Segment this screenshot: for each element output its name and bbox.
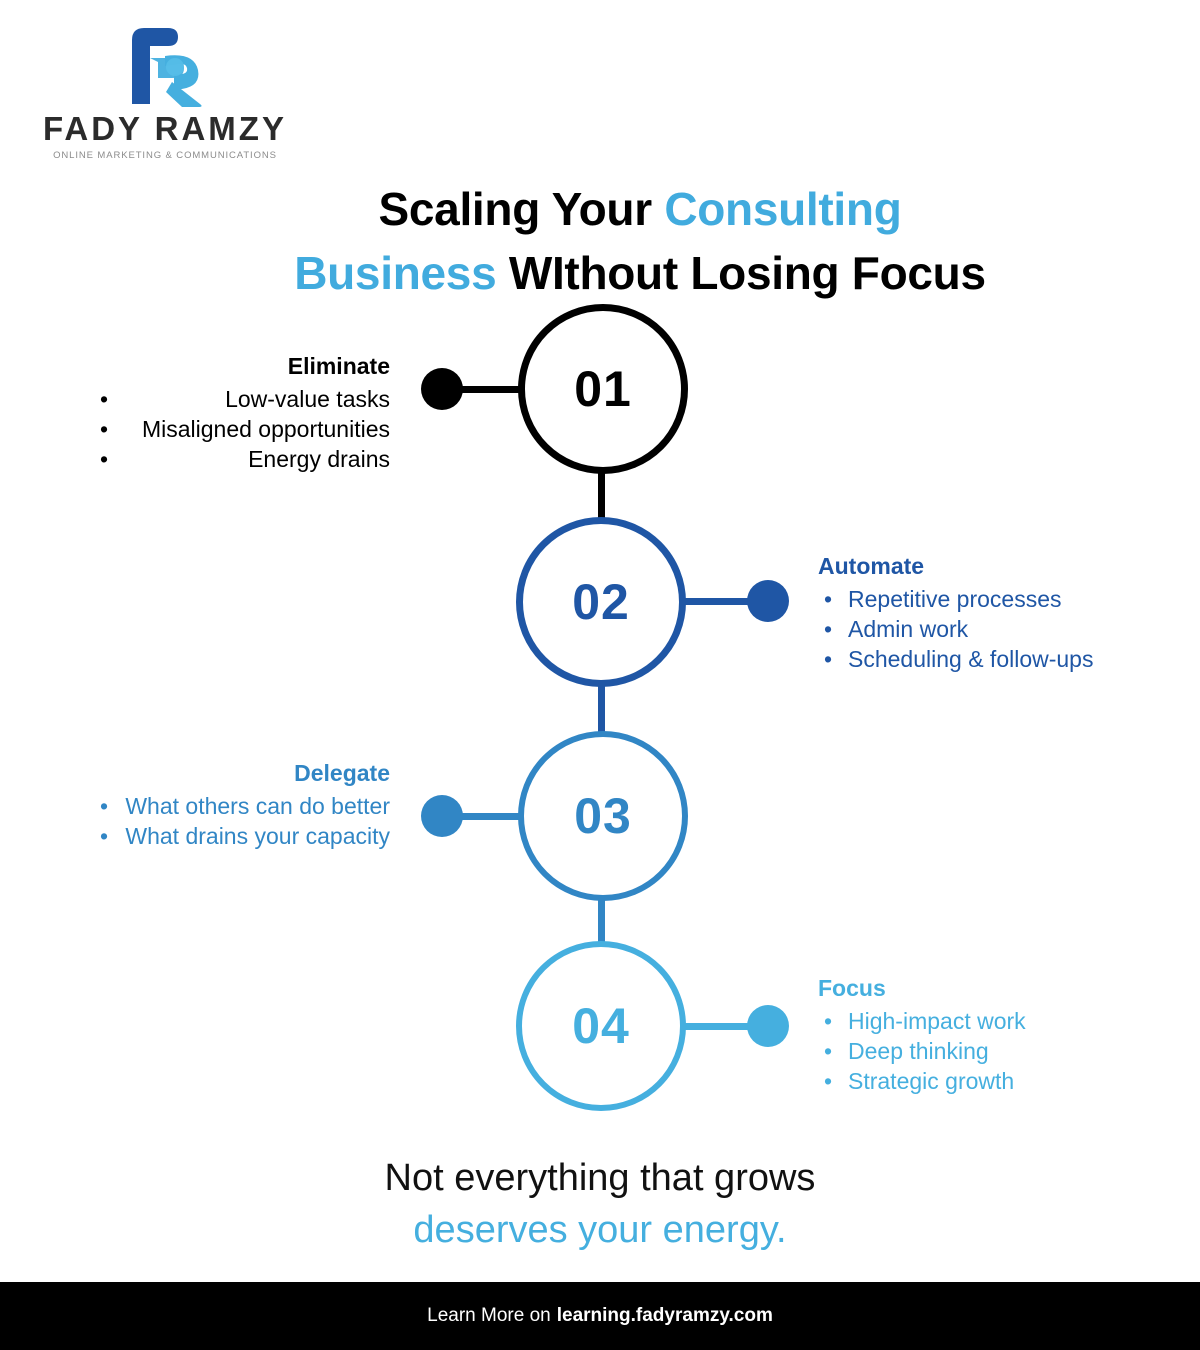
closing-tagline: Not everything that grows deserves your … <box>180 1152 1020 1256</box>
step-block-automate: Automate •Repetitive processes • Admin w… <box>818 553 1128 674</box>
step-list-02: •Repetitive processes • Admin work • Sch… <box>818 584 1128 674</box>
step-heading-04: Focus <box>818 975 1118 1002</box>
list-item: •Deep thinking <box>818 1036 1118 1066</box>
branch-line-01 <box>440 386 522 393</box>
step-list-04: •High-impact work •Deep thinking •Strate… <box>818 1006 1118 1096</box>
bullet-icon: • <box>100 444 108 474</box>
list-item: •What drains your capacity <box>100 821 390 851</box>
step-circle-02: 02 <box>516 517 686 687</box>
list-item: • Admin work <box>818 614 1128 644</box>
step-circle-04: 04 <box>516 941 686 1111</box>
step-heading-02: Automate <box>818 553 1128 580</box>
bullet-icon: • <box>100 821 108 851</box>
list-item: •Low-value tasks <box>100 384 390 414</box>
step-heading-03: Delegate <box>100 760 390 787</box>
branch-dot-02 <box>747 580 789 622</box>
list-item-text: What others can do better <box>125 793 390 819</box>
brand-logo: FADY RAMZY ONLINE MARKETING & COMMUNICAT… <box>40 22 290 164</box>
list-item-text: Low-value tasks <box>225 386 390 412</box>
tagline-line-2: deserves your energy. <box>180 1204 1020 1256</box>
connector-02-03 <box>598 683 605 739</box>
list-item-text: What drains your capacity <box>125 823 390 849</box>
list-item-text: Scheduling & follow-ups <box>848 646 1093 672</box>
page-title: Scaling Your Consulting Business WIthout… <box>210 177 1070 305</box>
list-item: •What others can do better <box>100 791 390 821</box>
step-heading-01: Eliminate <box>100 353 390 380</box>
footer-bar: Learn More on learning.fadyramzy.com <box>0 1282 1200 1350</box>
fr-monogram-icon <box>108 22 228 107</box>
bullet-icon: • <box>824 584 832 614</box>
branch-line-03 <box>448 813 524 820</box>
connector-01-02 <box>598 470 605 526</box>
logo-name: FADY RAMZY <box>40 110 290 148</box>
bullet-icon: • <box>100 414 108 444</box>
list-item-text: Deep thinking <box>848 1038 989 1064</box>
list-item: •High-impact work <box>818 1006 1118 1036</box>
step-circle-03: 03 <box>518 731 688 901</box>
footer-prefix: Learn More on <box>427 1305 551 1327</box>
list-item: •Energy drains <box>100 444 390 474</box>
footer-website-link[interactable]: learning.fadyramzy.com <box>557 1305 773 1327</box>
list-item: •Misaligned opportunities <box>100 414 390 444</box>
step-block-delegate: Delegate •What others can do better •Wha… <box>100 760 390 851</box>
logo-tagline: ONLINE MARKETING & COMMUNICATIONS <box>40 150 290 161</box>
step-block-focus: Focus •High-impact work •Deep thinking •… <box>818 975 1118 1096</box>
bullet-icon: • <box>100 791 108 821</box>
branch-dot-01 <box>421 368 463 410</box>
title-line1-accent: Consulting <box>664 183 901 235</box>
branch-dot-04 <box>747 1005 789 1047</box>
list-item: •Repetitive processes <box>818 584 1128 614</box>
list-item-text: Repetitive processes <box>848 586 1062 612</box>
list-item-text: Admin work <box>848 616 968 642</box>
tagline-line-1: Not everything that grows <box>180 1152 1020 1204</box>
branch-line-04 <box>684 1023 764 1030</box>
list-item-text: Misaligned opportunities <box>142 416 390 442</box>
branch-line-02 <box>684 598 766 605</box>
step-circle-01: 01 <box>518 304 688 474</box>
bullet-icon: • <box>824 614 832 644</box>
list-item: •Strategic growth <box>818 1066 1118 1096</box>
list-item: • Scheduling & follow-ups <box>818 644 1128 674</box>
bullet-icon: • <box>100 384 108 414</box>
step-list-01: •Low-value tasks •Misaligned opportuniti… <box>100 384 390 474</box>
title-line2-accent: Business <box>294 247 496 299</box>
branch-dot-03 <box>421 795 463 837</box>
title-line2-plain: WIthout Losing Focus <box>496 247 985 299</box>
list-item-text: High-impact work <box>848 1008 1026 1034</box>
connector-03-04 <box>598 896 605 950</box>
bullet-icon: • <box>824 1066 832 1096</box>
bullet-icon: • <box>824 1006 832 1036</box>
list-item-text: Strategic growth <box>848 1068 1014 1094</box>
step-list-03: •What others can do better •What drains … <box>100 791 390 851</box>
bullet-icon: • <box>824 1036 832 1066</box>
bullet-icon: • <box>824 644 832 674</box>
step-block-eliminate: Eliminate •Low-value tasks •Misaligned o… <box>100 353 390 474</box>
title-line1-plain: Scaling Your <box>379 183 665 235</box>
list-item-text: Energy drains <box>248 446 390 472</box>
